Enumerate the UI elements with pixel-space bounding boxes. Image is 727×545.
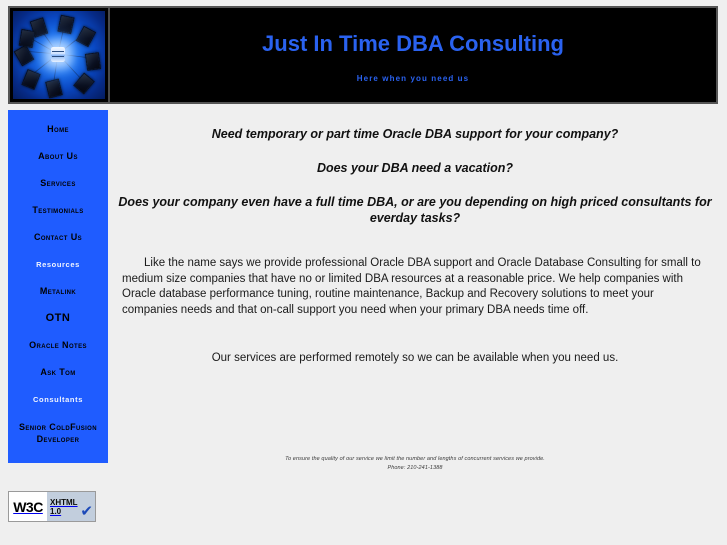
lead-question-1: Need temporary or part time Oracle DBA s… xyxy=(116,126,714,142)
page-root: Just In Time DBA Consulting Here when yo… xyxy=(0,0,727,545)
lead-question-3: Does your company even have a full time … xyxy=(116,194,714,226)
sidebar-item-metalink[interactable]: Metalink xyxy=(8,286,108,297)
badge-right-panel: XHTML 1.0 ✔ xyxy=(47,492,95,521)
sidebar-nav: Home About Us Services Testimonials Cont… xyxy=(8,110,108,463)
badge-standard: XHTML xyxy=(50,498,78,507)
logo-container xyxy=(10,8,110,102)
site-footer: To ensure the quality of our service we … xyxy=(112,455,718,473)
sidebar-item-about-us[interactable]: About Us xyxy=(8,151,108,162)
sidebar-item-services[interactable]: Services xyxy=(8,178,108,189)
badge-version: 1.0 xyxy=(50,507,61,516)
site-header: Just In Time DBA Consulting Here when yo… xyxy=(8,6,718,104)
checkmark-icon: ✔ xyxy=(80,504,93,519)
lead-question-2: Does your DBA need a vacation? xyxy=(116,160,714,176)
w3c-xhtml-validation-badge[interactable]: W3C XHTML 1.0 ✔ xyxy=(8,491,96,522)
intro-paragraph: Like the name says we provide profession… xyxy=(122,256,708,318)
logo-hub-server xyxy=(51,47,65,62)
site-title: Just In Time DBA Consulting xyxy=(110,31,716,57)
sidebar-item-senior-coldfusion-developer[interactable]: Senior ColdFusion Developer xyxy=(8,421,108,445)
w3c-logo-icon: W3C xyxy=(9,492,47,521)
header-title-area: Just In Time DBA Consulting Here when yo… xyxy=(110,8,716,102)
footer-disclaimer: To ensure the quality of our service we … xyxy=(112,455,718,464)
logo-node xyxy=(19,29,36,48)
logo-node xyxy=(85,52,101,71)
footer-phone: Phone: 210-241-1388 xyxy=(112,464,718,473)
sidebar-item-consultants[interactable]: Consultants xyxy=(8,394,108,405)
site-tagline: Here when you need us xyxy=(110,74,716,83)
main-content: Need temporary or part time Oracle DBA s… xyxy=(112,110,718,490)
sidebar-item-home[interactable]: Home xyxy=(8,124,108,135)
network-hub-logo-icon xyxy=(13,11,105,99)
sidebar-item-ask-tom[interactable]: Ask Tom xyxy=(8,367,108,378)
closing-note: Our services are performed remotely so w… xyxy=(116,352,714,364)
sidebar-item-oracle-notes[interactable]: Oracle Notes xyxy=(8,340,108,351)
sidebar-item-contact-us[interactable]: Contact Us xyxy=(8,232,108,243)
sidebar-item-testimonials[interactable]: Testimonials xyxy=(8,205,108,216)
sidebar-item-resources[interactable]: Resources xyxy=(8,259,108,270)
badge-standard-label: XHTML 1.0 xyxy=(47,498,78,516)
sidebar-item-otn[interactable]: OTN xyxy=(8,313,108,324)
